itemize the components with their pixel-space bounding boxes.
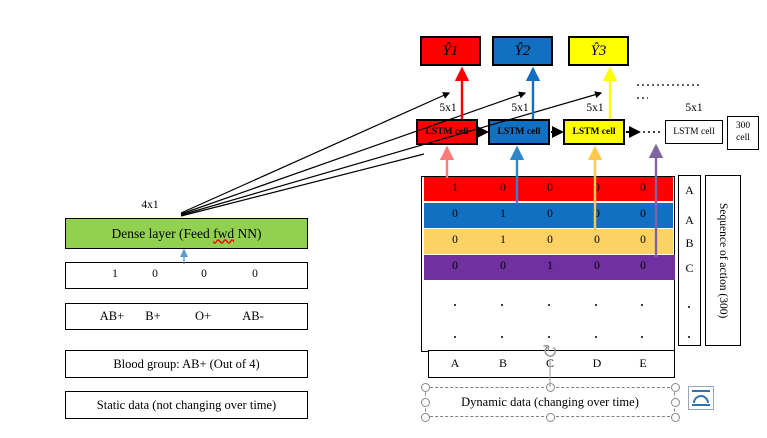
matrix-ellipsis-dot bbox=[548, 304, 550, 306]
dense-layer-label-suffix: NN) bbox=[234, 226, 261, 241]
blood-category-cell: O+ bbox=[185, 309, 221, 324]
rotate-icon[interactable]: ↻ bbox=[540, 342, 560, 362]
lstm-cell-4: LSTM cell bbox=[665, 120, 723, 144]
onehot-cell: 0 bbox=[532, 234, 568, 246]
matrix-ellipsis-dot bbox=[548, 336, 550, 338]
layout-options-icon[interactable] bbox=[688, 386, 714, 410]
action-label: C bbox=[678, 260, 701, 276]
onehot-cell: 0 bbox=[532, 208, 568, 220]
matrix-ellipsis-dot bbox=[501, 304, 503, 306]
lstm-cell-1: LSTM cell bbox=[416, 119, 478, 145]
lstm-cell-label-3: LSTM cell bbox=[572, 127, 615, 137]
action-alphabet-cell: E bbox=[625, 356, 661, 371]
onehot-cell: 0 bbox=[625, 260, 661, 272]
action-label: B bbox=[678, 235, 701, 251]
onehot-cell: 0 bbox=[437, 234, 473, 246]
selection-handle-top-right[interactable] bbox=[671, 383, 680, 392]
blood-category-cell: B+ bbox=[135, 309, 171, 324]
selection-handle-middle-right[interactable] bbox=[671, 398, 680, 407]
dynamic-data-caption: Dynamic data (changing over time) bbox=[461, 395, 639, 410]
static-data-box: Static data (not changing over time) bbox=[65, 391, 308, 419]
lstm-cell-3: LSTM cell bbox=[563, 119, 625, 145]
blood-group-box: Blood group: AB+ (Out of 4) bbox=[65, 350, 308, 378]
blood-category-cell: AB+ bbox=[94, 309, 130, 324]
onehot-cell: 1 bbox=[437, 182, 473, 194]
selection-handle-bottom-center[interactable] bbox=[546, 413, 555, 422]
onehot-cell: 0 bbox=[579, 260, 615, 272]
action-alphabet-cell: A bbox=[437, 356, 473, 371]
prediction-label-2: Ŷ2 bbox=[515, 44, 531, 59]
onehot-cell: 0 bbox=[579, 182, 615, 194]
dense-layer-label-misspelled: fwd bbox=[213, 226, 234, 241]
memory-size-line-1: 300 bbox=[736, 121, 750, 133]
selection-handle-bottom-left[interactable] bbox=[421, 413, 430, 422]
onehot-cell: 0 bbox=[485, 260, 521, 272]
onehot-cell: 0 bbox=[579, 234, 615, 246]
matrix-ellipsis-dot bbox=[454, 304, 456, 306]
blood-group-label: Blood group: AB+ (Out of 4) bbox=[113, 357, 259, 372]
selection-handle-middle-left[interactable] bbox=[421, 398, 430, 407]
matrix-ellipsis-dot bbox=[454, 336, 456, 338]
onehot-cell: 0 bbox=[485, 182, 521, 194]
selection-handle-top-left[interactable] bbox=[421, 383, 430, 392]
dense-layer-box: Dense layer (Feed fwd NN) bbox=[65, 218, 308, 249]
matrix-ellipsis-dot bbox=[595, 304, 597, 306]
prediction-label-3: Ŷ3 bbox=[591, 44, 607, 59]
static-onehot-cell: 0 bbox=[137, 268, 173, 280]
prediction-box-1: Ŷ1 bbox=[420, 36, 481, 66]
action-alphabet-cell: D bbox=[579, 356, 615, 371]
sequence-of-action-box: Sequence of action (300) bbox=[705, 175, 741, 346]
static-onehot-cell: 0 bbox=[186, 268, 222, 280]
blood-category-cell: AB- bbox=[235, 309, 271, 324]
static-data-caption: Static data (not changing over time) bbox=[97, 398, 276, 413]
action-label: A bbox=[678, 182, 701, 198]
prediction-label-1: Ŷ1 bbox=[443, 44, 459, 59]
selection-handle-top-center[interactable] bbox=[546, 383, 555, 392]
matrix-ellipsis-dot bbox=[641, 336, 643, 338]
prediction-box-2: Ŷ2 bbox=[492, 36, 553, 66]
dense-layer-label-prefix: Dense layer (Feed bbox=[112, 226, 214, 241]
static-onehot-cell: 0 bbox=[237, 268, 273, 280]
lstm-cell-2: LSTM cell bbox=[488, 119, 550, 145]
dim-label-dense: 4x1 bbox=[128, 198, 172, 212]
onehot-cell: 0 bbox=[625, 182, 661, 194]
matrix-ellipsis-dot bbox=[501, 336, 503, 338]
onehot-cell: 0 bbox=[437, 260, 473, 272]
lstm-cell-label-1: LSTM cell bbox=[425, 127, 468, 137]
static-onehot-cell: 1 bbox=[97, 268, 133, 280]
onehot-cell: 1 bbox=[485, 208, 521, 220]
dim-label-lstm-4: 5x1 bbox=[670, 101, 718, 115]
memory-size-box: 300 cell bbox=[727, 116, 759, 150]
dim-label-lstm-2: 5x1 bbox=[496, 101, 544, 115]
onehot-cell: 0 bbox=[625, 234, 661, 246]
matrix-ellipsis-dot bbox=[641, 304, 643, 306]
diagram-canvas: Ŷ1 Ŷ2 Ŷ3 5x1 5x1 5x1 5x1 LSTM cell LSTM … bbox=[0, 0, 767, 438]
matrix-ellipsis-dot bbox=[595, 336, 597, 338]
action-label: A bbox=[678, 212, 701, 228]
action-alphabet-cell: B bbox=[485, 356, 521, 371]
onehot-cell: 1 bbox=[485, 234, 521, 246]
dim-label-lstm-3: 5x1 bbox=[571, 101, 619, 115]
onehot-cell: 1 bbox=[532, 260, 568, 272]
action-ellipsis-dot bbox=[688, 336, 690, 338]
lstm-cell-label-2: LSTM cell bbox=[497, 127, 540, 137]
memory-size-line-2: cell bbox=[736, 133, 750, 145]
onehot-cell: 0 bbox=[625, 208, 661, 220]
onehot-cell: 0 bbox=[579, 208, 615, 220]
lstm-cell-label-4: LSTM cell bbox=[673, 127, 714, 137]
sequence-of-action-label: Sequence of action (300) bbox=[717, 203, 729, 318]
prediction-box-3: Ŷ3 bbox=[568, 36, 629, 66]
onehot-cell: 0 bbox=[532, 182, 568, 194]
onehot-cell: 0 bbox=[437, 208, 473, 220]
selection-handle-bottom-right[interactable] bbox=[671, 413, 680, 422]
action-ellipsis-dot bbox=[688, 306, 690, 308]
dim-label-lstm-1: 5x1 bbox=[424, 101, 472, 115]
